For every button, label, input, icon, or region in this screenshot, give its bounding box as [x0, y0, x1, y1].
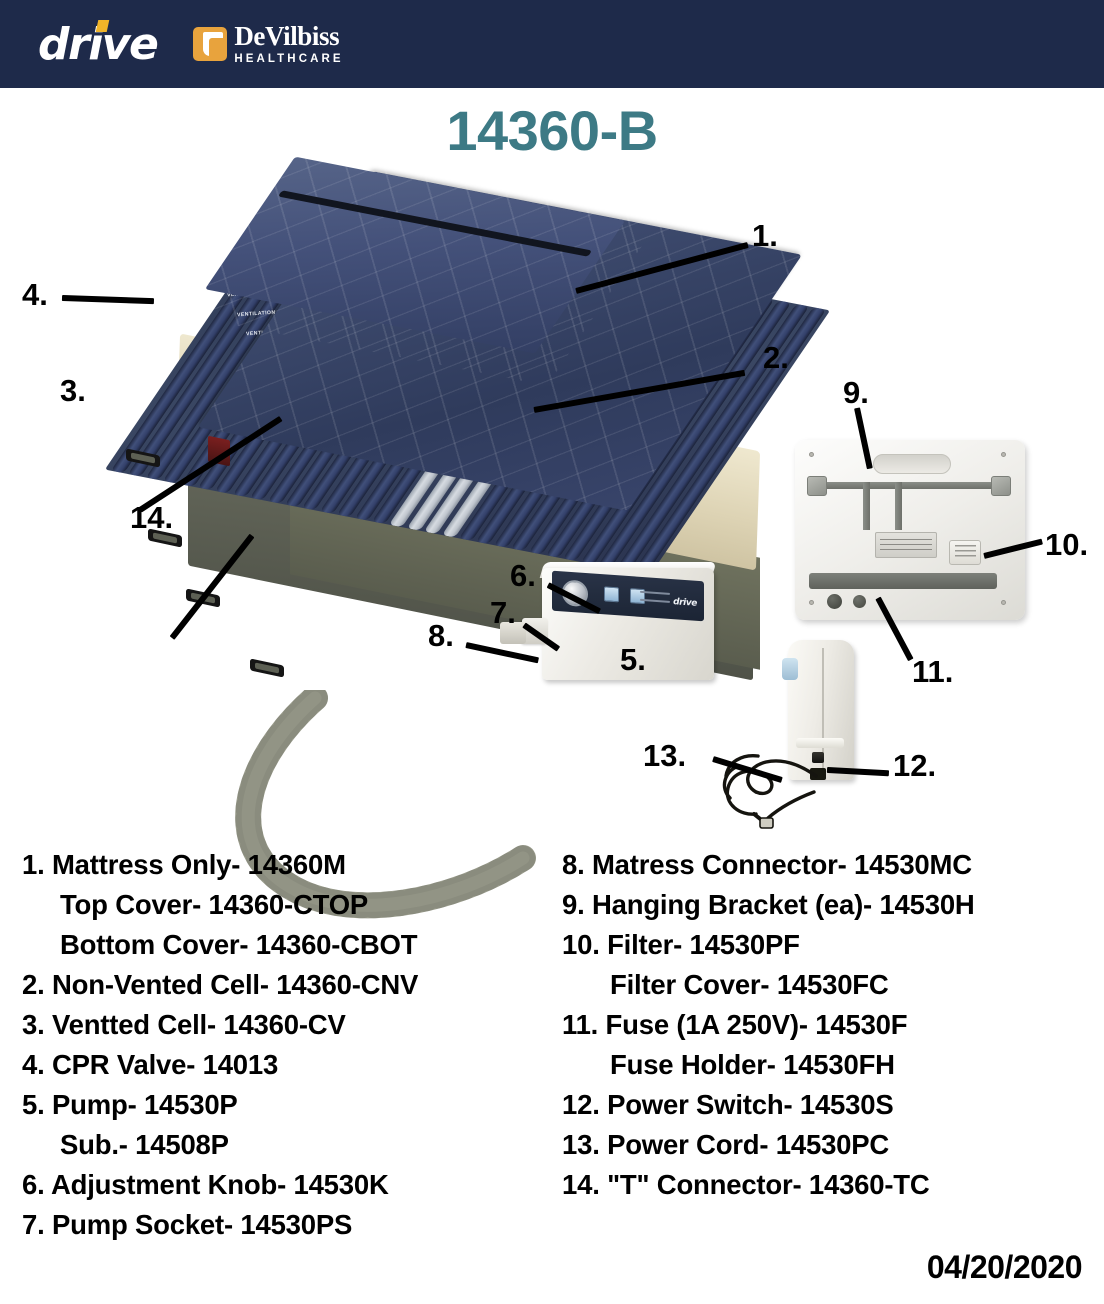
- parts-list-item: Sub.- 14508P: [22, 1125, 552, 1165]
- parts-list-item: Fuse Holder- 14530FH: [562, 1045, 1104, 1085]
- parts-list-item: 9. Hanging Bracket (ea)- 14530H: [562, 885, 1104, 925]
- devilbiss-wordmark: DeVilbiss HEALTHCARE: [234, 23, 343, 65]
- page-title: 14360-B: [0, 98, 1104, 163]
- callout-13: 13.: [643, 738, 686, 774]
- callout-9: 9.: [843, 375, 869, 411]
- revision-date: 04/20/2020: [927, 1249, 1082, 1286]
- parts-list-item: 13. Power Cord- 14530PC: [562, 1125, 1104, 1165]
- pump-rear-view: [795, 440, 1025, 620]
- devilbiss-mark-icon: [193, 27, 227, 61]
- callout-3: 3.: [60, 373, 86, 409]
- parts-list-left-column: 1. Mattress Only- 14360MTop Cover- 14360…: [0, 845, 552, 1245]
- pump-side-view: [770, 640, 880, 810]
- parts-list-item: 8. Matress Connector- 14530MC: [562, 845, 1104, 885]
- filter-cover[interactable]: [949, 540, 981, 565]
- pump-mode-button[interactable]: [604, 586, 619, 602]
- parts-list-item: 6. Adjustment Knob- 14530K: [22, 1165, 552, 1205]
- housing-screw: [809, 452, 814, 457]
- parts-list-item: 12. Power Switch- 14530S: [562, 1085, 1104, 1125]
- parts-list-right-column: 8. Matress Connector- 14530MC9. Hanging …: [552, 845, 1104, 1245]
- parts-list-item: 4. CPR Valve- 14013: [22, 1045, 552, 1085]
- pump-drive-logo: drive: [673, 597, 697, 609]
- parts-list-item: Top Cover- 14360-CTOP: [22, 885, 552, 925]
- callout-7: 7.: [490, 595, 516, 631]
- brand-header: drive DeVilbiss HEALTHCARE: [0, 0, 1104, 88]
- hanging-bracket-mount: [991, 476, 1011, 496]
- callout-6: 6.: [510, 558, 536, 594]
- power-cord: [698, 736, 828, 832]
- callout-10: 10.: [1045, 527, 1088, 563]
- pump-rear-knob: [827, 594, 842, 609]
- housing-screw: [809, 600, 814, 605]
- parts-list-item: Filter Cover- 14530FC: [562, 965, 1104, 1005]
- adjustment-knob-side: [782, 658, 798, 680]
- top-cover-folded-flap: [205, 157, 625, 354]
- hanging-bracket-leg: [895, 482, 902, 530]
- callout-12: 12.: [893, 748, 936, 784]
- pump-rating-label: [875, 532, 937, 558]
- callout-8: 8.: [428, 618, 454, 654]
- callout-2: 2.: [763, 340, 789, 376]
- parts-list-item: 10. Filter- 14530PF: [562, 925, 1104, 965]
- devilbiss-subtitle: HEALTHCARE: [234, 53, 343, 65]
- callout-14: 14.: [130, 500, 173, 536]
- parts-list-item: 1. Mattress Only- 14360M: [22, 845, 552, 885]
- devilbiss-name: DeVilbiss: [234, 23, 343, 50]
- housing-screw: [1001, 452, 1006, 457]
- parts-list-item: 5. Pump- 14530P: [22, 1085, 552, 1125]
- callout-4: 4.: [22, 277, 48, 313]
- parts-list-item: Bottom Cover- 14360-CBOT: [22, 925, 552, 965]
- parts-list-item: 11. Fuse (1A 250V)- 14530F: [562, 1005, 1104, 1045]
- parts-list-item: 14. "T" Connector- 14360-TC: [562, 1165, 1104, 1205]
- callout-5: 5.: [620, 642, 646, 678]
- pump-carry-handle: [873, 454, 951, 474]
- parts-list-item: 3. Ventted Cell- 14360-CV: [22, 1005, 552, 1045]
- devilbiss-logo: DeVilbiss HEALTHCARE: [193, 23, 343, 65]
- carry-handle-strap: [250, 658, 284, 677]
- fuse-holder[interactable]: [853, 595, 866, 608]
- product-diagram: VENTILATIONVENTILATIONVENTILATIONVENTILA…: [0, 170, 1104, 835]
- callout-11: 11.: [912, 654, 953, 690]
- pump-vent-bar: [809, 573, 997, 589]
- parts-list-item: 2. Non-Vented Cell- 14360-CNV: [22, 965, 552, 1005]
- parts-list: 1. Mattress Only- 14360MTop Cover- 14360…: [0, 845, 1104, 1245]
- hanging-bracket: [815, 482, 1005, 489]
- callout-1: 1.: [752, 218, 778, 254]
- housing-screw: [1001, 600, 1006, 605]
- hanging-bracket-leg: [863, 482, 870, 530]
- hanging-bracket-mount: [807, 476, 827, 496]
- drive-logo: drive: [38, 19, 157, 70]
- parts-list-item: 7. Pump Socket- 14530PS: [22, 1205, 552, 1245]
